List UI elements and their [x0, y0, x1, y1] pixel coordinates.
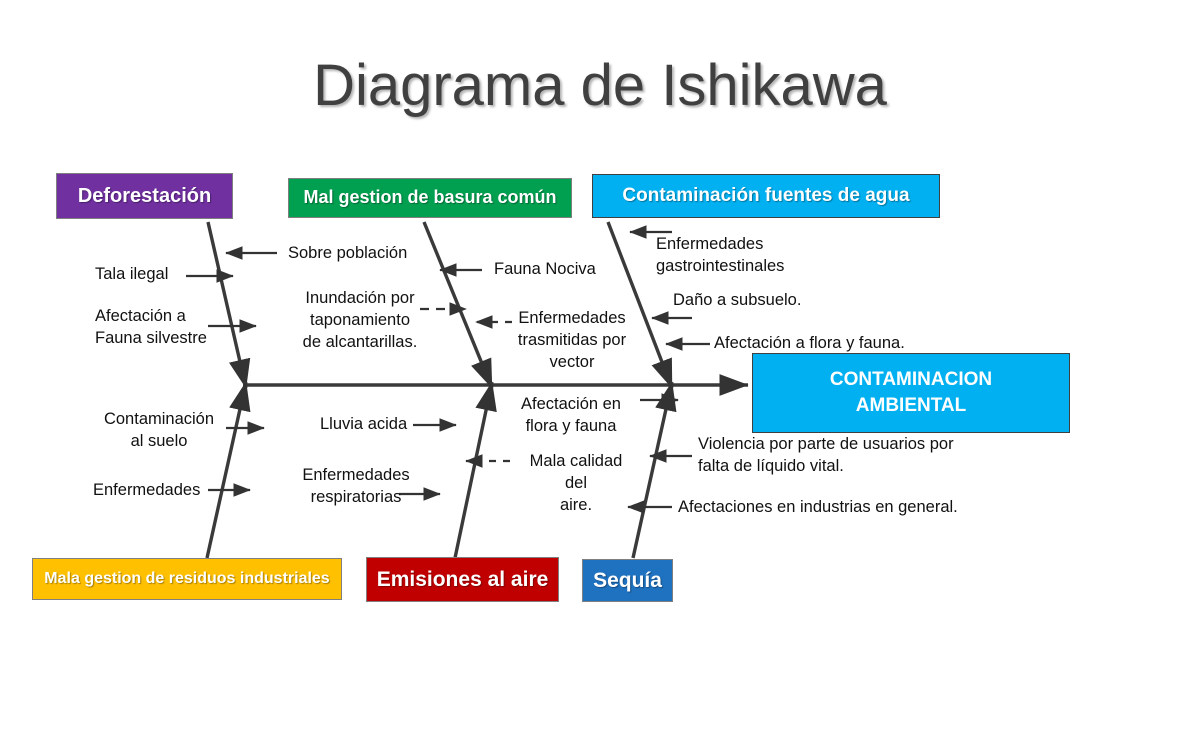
cause-enfermedades-respiratorias: Enfermedades respiratorias [297, 465, 415, 509]
category-box-sequia[interactable]: Sequía [582, 559, 673, 602]
cause-mala-calidad-aire: Mala calidad del aire. [519, 451, 633, 516]
cause-contaminacion-suelo: Contaminación al suelo [96, 409, 222, 453]
cause-inundacion-taponamiento: Inundación por taponamiento de alcantari… [296, 288, 424, 353]
cause-lluvia-acida: Lluvia acida [320, 414, 407, 436]
ishikawa-diagram-slide: Diagrama de Ishikawa [0, 0, 1200, 729]
category-box-emisiones-aire[interactable]: Emisiones al aire [366, 557, 559, 602]
effect-box-contaminacion-ambiental[interactable]: CONTAMINACION AMBIENTAL [752, 353, 1070, 433]
cause-afectaciones-industrias: Afectaciones en industrias en general. [678, 497, 958, 519]
cause-fauna-nociva: Fauna Nociva [494, 259, 596, 281]
category-box-deforestacion[interactable]: Deforestación [56, 173, 233, 219]
cause-tala-ilegal: Tala ilegal [95, 264, 168, 286]
category-label-emisiones-aire: Emisiones al aire [377, 568, 549, 591]
cause-afectacion-en-flora-y-fauna: Afectación en flora y fauna [516, 394, 626, 438]
effect-label-line1: CONTAMINACION [830, 367, 992, 393]
effect-label-line2: AMBIENTAL [856, 393, 966, 419]
bone-deforestacion [208, 222, 246, 388]
category-label-fuentes-agua: Contaminación fuentes de agua [622, 186, 909, 207]
category-label-residuos-industriales: Mala gestion de residuos industriales [44, 570, 329, 588]
category-label-sequia: Sequía [593, 569, 662, 592]
cause-afectacion-fauna-silvestre: Afectación a Fauna silvestre [95, 306, 207, 350]
cause-sobre-poblacion: Sobre población [288, 243, 407, 265]
bone-basura [424, 222, 492, 388]
cause-enfermedades-vector: Enfermedades trasmitidas por vector [514, 308, 630, 373]
cause-dano-subsuelo: Daño a subsuelo. [673, 290, 801, 312]
bone-sequia [633, 382, 672, 558]
cause-violencia-usuarios: Violencia por parte de usuarios por falt… [698, 434, 954, 478]
category-label-basura: Mal gestion de basura común [303, 188, 556, 208]
category-box-basura[interactable]: Mal gestion de basura común [288, 178, 572, 218]
bone-emisiones-aire [455, 382, 492, 558]
category-label-deforestacion: Deforestación [78, 185, 211, 207]
cause-enfermedades-residuos: Enfermedades [93, 480, 200, 502]
cause-enfermedades-gastrointestinales: Enfermedades gastrointestinales [656, 234, 784, 278]
category-box-residuos-industriales[interactable]: Mala gestion de residuos industriales [32, 558, 342, 600]
cause-afectacion-flora-fauna-agua: Afectación a flora y fauna. [714, 333, 905, 355]
category-box-fuentes-agua[interactable]: Contaminación fuentes de agua [592, 174, 940, 218]
